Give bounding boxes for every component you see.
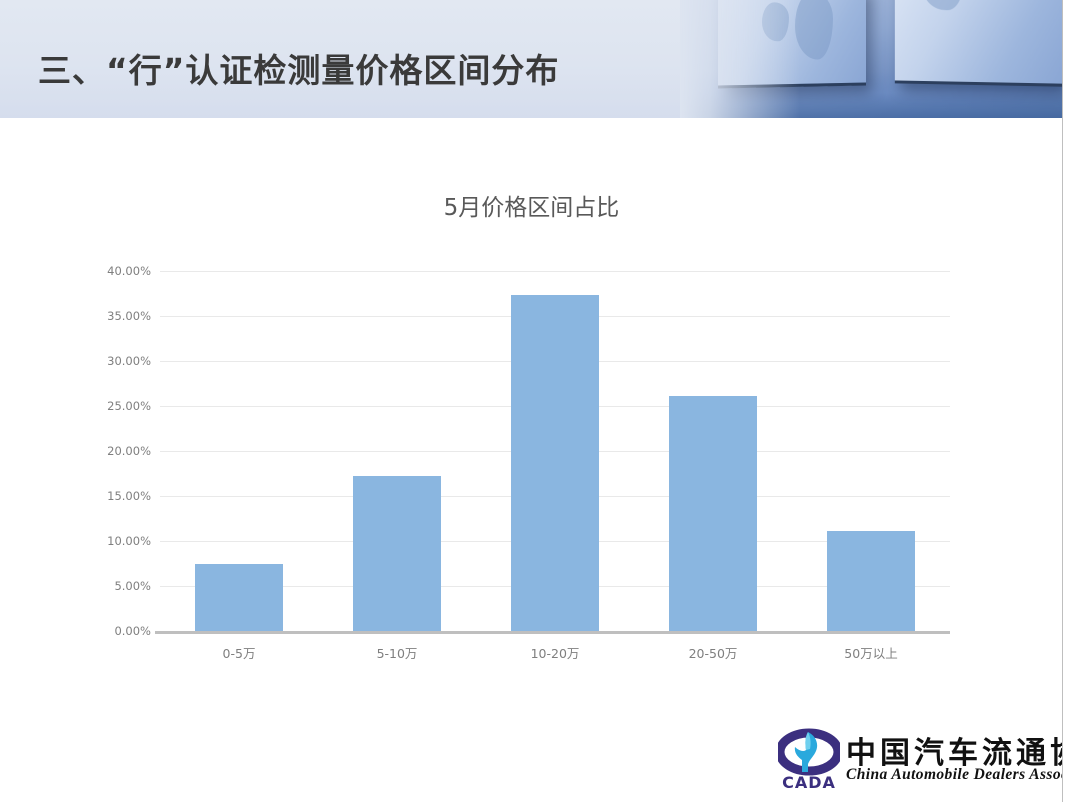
decorative-cube-center	[895, 0, 1062, 87]
decorative-cube-left	[718, 0, 866, 89]
y-axis-tick-label: 35.00%	[107, 309, 151, 323]
y-axis-tick-label: 0.00%	[114, 624, 151, 638]
chart-bar[interactable]	[353, 476, 441, 631]
chart-axis-baseline	[155, 631, 950, 634]
y-axis-tick-label: 20.00%	[107, 444, 151, 458]
x-axis-tick-label: 10-20万	[480, 643, 630, 662]
y-axis-tick-label: 30.00%	[107, 354, 151, 368]
chart-bar[interactable]	[511, 295, 599, 631]
y-axis-tick-label: 15.00%	[107, 489, 151, 503]
logo-name-en: China Automobile Dealers Association	[846, 766, 1063, 784]
chart-container: 5月价格区间占比 0.00%5.00%10.00%15.00%20.00%25.…	[0, 118, 1063, 698]
svg-text:CADA: CADA	[782, 773, 836, 792]
y-axis-tick-label: 25.00%	[107, 399, 151, 413]
cada-emblem-icon: CADA	[778, 726, 840, 792]
gridline	[160, 271, 950, 272]
y-axis-tick-label: 5.00%	[114, 579, 151, 593]
y-axis-tick-label: 40.00%	[107, 264, 151, 278]
slide: 三、“行”认证检测量价格区间分布 5月价格区间占比 0.00%5.00%10.0…	[0, 0, 1063, 802]
slide-header-banner: 三、“行”认证检测量价格区间分布	[0, 0, 1063, 118]
chart-plot-area: 0.00%5.00%10.00%15.00%20.00%25.00%30.00%…	[160, 271, 950, 631]
chart-bar[interactable]	[195, 564, 283, 631]
x-axis-tick-label: 5-10万	[322, 643, 472, 662]
chart-bar[interactable]	[669, 396, 757, 631]
header-decorative-photo	[680, 0, 1063, 118]
x-axis-tick-label: 50万以上	[796, 643, 946, 662]
cada-logo: CADA 中国汽车流通协会 China Automobile Dealers A…	[778, 726, 1058, 792]
chart-bar[interactable]	[827, 531, 915, 631]
page-title: 三、“行”认证检测量价格区间分布	[38, 44, 559, 92]
y-axis-tick-label: 10.00%	[107, 534, 151, 548]
x-axis-tick-label: 20-50万	[638, 643, 788, 662]
chart-title: 5月价格区间占比	[0, 188, 1063, 222]
x-axis-tick-label: 0-5万	[164, 643, 314, 662]
